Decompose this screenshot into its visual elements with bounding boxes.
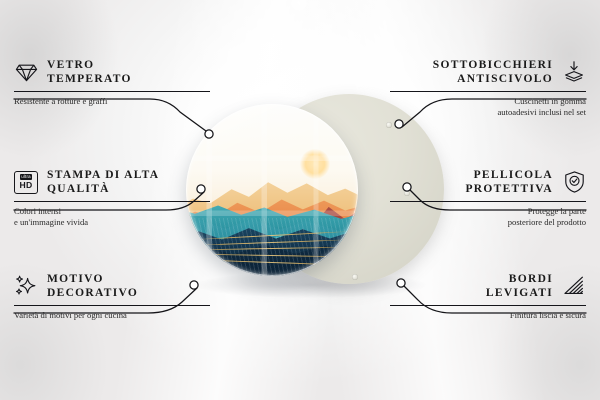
feature-bordi-levigati[interactable]: BORDI LEVIGATI Finitura liscia e sicura: [390, 272, 586, 321]
rubber-pad: [386, 122, 392, 128]
feature-subtitle: Resistente a rotture e graffi: [14, 96, 210, 107]
feature-stampa-alta-qualita[interactable]: ultra HD STAMPA DI ALTA QUALITÀ Colori i…: [14, 168, 210, 228]
feature-title: SOTTOBICCHIERI ANTISCIVOLO: [433, 58, 553, 86]
feature-vetro-temperato[interactable]: VETRO TEMPERATO Resistente a rotture e g…: [14, 58, 210, 107]
artwork-line-texture: [186, 218, 358, 276]
feature-title: PELLICOLA PROTETTIVA: [465, 168, 553, 196]
artwork-mountain-landscape: [186, 104, 358, 276]
feature-title: STAMPA DI ALTA QUALITÀ: [47, 168, 159, 196]
sparkles-icon: [14, 274, 38, 298]
feature-sottobicchieri-antiscivolo[interactable]: SOTTOBICCHIERI ANTISCIVOLO Cuscinetti in…: [390, 58, 586, 118]
feature-title: MOTIVO DECORATIVO: [47, 272, 138, 300]
feature-divider: [14, 201, 210, 202]
feature-divider: [14, 305, 210, 306]
feature-header: PELLICOLA PROTETTIVA: [390, 168, 586, 196]
feature-subtitle: Colori intensi e un'immagine vivida: [14, 206, 210, 228]
product-front-disc: [186, 104, 358, 276]
feature-header: MOTIVO DECORATIVO: [14, 272, 210, 300]
infographic-stage: VETRO TEMPERATO Resistente a rotture e g…: [0, 0, 600, 400]
feature-subtitle: Cuscinetti in gomma autoadesivi inclusi …: [390, 96, 586, 118]
feature-subtitle: Finitura liscia e sicura: [390, 310, 586, 321]
feature-subtitle: Protegge la parte posteriore del prodott…: [390, 206, 586, 228]
feature-header: BORDI LEVIGATI: [390, 272, 586, 300]
feature-header: VETRO TEMPERATO: [14, 58, 210, 86]
anti-slip-pad-icon: [562, 60, 586, 84]
feature-divider: [390, 91, 586, 92]
shield-check-icon: [562, 170, 586, 194]
ultra-hd-badge-icon: ultra HD: [14, 170, 38, 194]
feature-divider: [390, 305, 586, 306]
feature-pellicola-protettiva[interactable]: PELLICOLA PROTETTIVA Protegge la parte p…: [390, 168, 586, 228]
feature-subtitle: Varietà di motivi per ogni cucina: [14, 310, 210, 321]
glass-glint: [288, 0, 310, 14]
diamond-icon: [14, 60, 38, 84]
feature-divider: [390, 201, 586, 202]
feature-title: BORDI LEVIGATI: [486, 272, 553, 300]
feature-title: VETRO TEMPERATO: [47, 58, 132, 86]
feature-header: ultra HD STAMPA DI ALTA QUALITÀ: [14, 168, 210, 196]
feature-header: SOTTOBICCHIERI ANTISCIVOLO: [390, 58, 586, 86]
feature-divider: [14, 91, 210, 92]
feature-motivo-decorativo[interactable]: MOTIVO DECORATIVO Varietà di motivi per …: [14, 272, 210, 321]
polished-edge-icon: [562, 274, 586, 298]
ultra-hd-badge-bottom: HD: [19, 181, 32, 190]
